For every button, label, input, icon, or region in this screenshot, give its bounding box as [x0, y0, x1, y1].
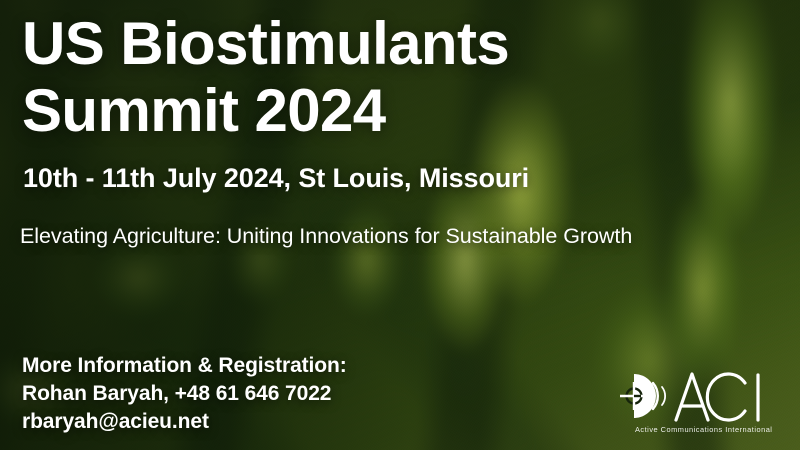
contact-heading: More Information & Registration: [22, 352, 347, 380]
contact-block: More Information & Registration: Rohan B… [22, 352, 347, 436]
contact-email[interactable]: rbaryah@acieu.net [22, 408, 347, 436]
aci-logo: Active Communications International [608, 366, 788, 438]
aci-wordmark [676, 374, 758, 420]
event-title: US Biostimulants Summit 2024 [22, 10, 682, 144]
event-banner: US Biostimulants Summit 2024 10th - 11th… [0, 0, 800, 450]
contact-name-phone: Rohan Baryah, +48 61 646 7022 [22, 380, 347, 408]
signal-globe-icon [620, 374, 665, 418]
banner-content: US Biostimulants Summit 2024 10th - 11th… [0, 0, 800, 450]
aci-logo-tagline: Active Communications International [635, 425, 772, 434]
event-tagline: Elevating Agriculture: Uniting Innovatio… [20, 224, 632, 249]
event-date-location: 10th - 11th July 2024, St Louis, Missour… [23, 163, 529, 194]
